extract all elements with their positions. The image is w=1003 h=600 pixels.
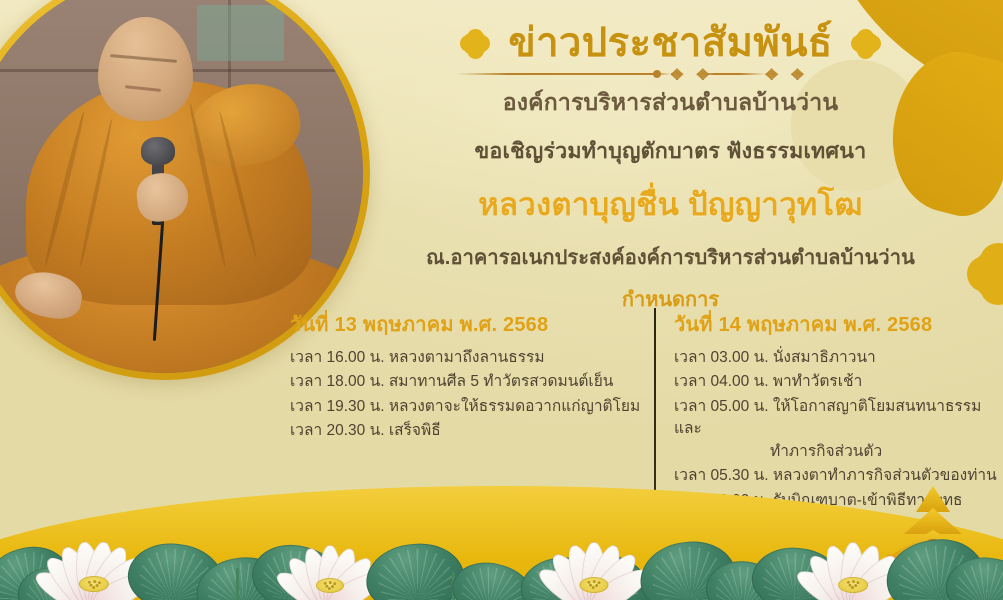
day-title: วันที่ 14 พฤษภาคม พ.ศ. 2568 bbox=[674, 308, 997, 340]
quatrefoil-flower-icon bbox=[851, 29, 881, 59]
schedule-item: เวลา 04.00 น. พาทำวัตรเช้า bbox=[674, 371, 997, 393]
golden-pagoda-icon bbox=[885, 482, 981, 568]
schedule-item: เวลา 05.00 น. ให้โอกาสญาติโยมสนทนาธรรมแล… bbox=[674, 396, 997, 463]
schedule-item: เวลา 16.00 น. หลวงตามาถึงลานธรรม bbox=[290, 347, 638, 369]
day-title: วันที่ 13 พฤษภาคม พ.ศ. 2568 bbox=[290, 308, 638, 340]
ornamental-divider bbox=[456, 67, 886, 81]
poster-header: ข่าวประชาสัมพันธ์ องค์การบริหารส่วนตำบลบ… bbox=[358, 22, 983, 315]
page-title: ข่าวประชาสัมพันธ์ bbox=[508, 22, 832, 65]
title-row: ข่าวประชาสัมพันธ์ bbox=[358, 22, 983, 65]
announcement-poster: ข่าวประชาสัมพันธ์ องค์การบริหารส่วนตำบลบ… bbox=[0, 0, 1003, 600]
photo-wall-panel bbox=[197, 5, 284, 61]
photo-microphone-head bbox=[141, 137, 175, 165]
venue-text: ณ.อาคารอเนกประสงค์องค์การบริหารส่วนตำบลบ… bbox=[358, 241, 983, 273]
schedule-item: เวลา 18.00 น. สมาทานศีล 5 ทำวัตรสวดมนต์เ… bbox=[290, 371, 638, 393]
quatrefoil-flower-icon bbox=[460, 29, 490, 59]
schedule-item: เวลา 20.30 น. เสร็จพิธี bbox=[290, 420, 638, 442]
schedule-item-text: เวลา 05.00 น. ให้โอกาสญาติโยมสนทนาธรรมแล… bbox=[674, 398, 981, 437]
schedule-item: เวลา 03.00 น. นั่งสมาธิภาวนา bbox=[674, 347, 997, 369]
organization-name: องค์การบริหารส่วนตำบลบ้านว่าน bbox=[358, 85, 983, 121]
schedule-column-day1: วันที่ 13 พฤษภาคม พ.ศ. 2568 เวลา 16.00 น… bbox=[290, 308, 654, 445]
invitation-text: ขอเชิญร่วมทำบุญตักบาตร ฟังธรรมเทศนา bbox=[358, 134, 983, 168]
schedule-item: เวลา 19.30 น. หลวงตาจะให้ธรรมดอวากแก่ญาต… bbox=[290, 396, 638, 418]
monk-name: หลวงตาบุญชื่น ปัญญาวุทโฒ bbox=[358, 179, 983, 229]
schedule-item-continuation: ทำภารกิจส่วนตัว bbox=[674, 441, 997, 463]
